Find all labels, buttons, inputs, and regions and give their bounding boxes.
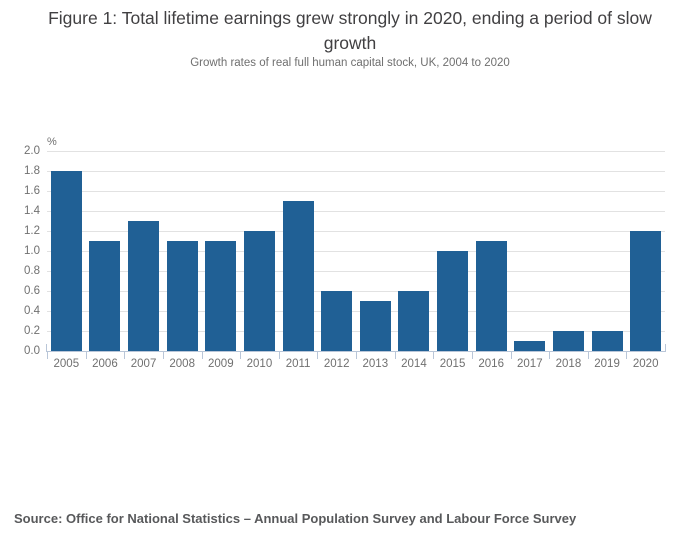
x-axis-tick-label: 2014	[395, 358, 434, 370]
y-axis-tick-label: 0.8	[24, 265, 40, 277]
x-axis-tick-label: 2007	[124, 358, 163, 370]
bar-slot	[472, 151, 511, 351]
bar[interactable]	[283, 201, 314, 351]
bar[interactable]	[437, 251, 468, 351]
axis-right-tick	[665, 344, 666, 352]
y-axis-tick-label: 1.2	[24, 225, 40, 237]
bar-slot	[124, 151, 163, 351]
bar[interactable]	[51, 171, 82, 351]
y-axis-tick-label: 0.4	[24, 305, 40, 317]
x-axis-tick-label: 2020	[626, 358, 665, 370]
bar[interactable]	[476, 241, 507, 351]
bar[interactable]	[630, 231, 661, 351]
y-axis-tick-label: 0.2	[24, 325, 40, 337]
x-axis-tick-label: 2018	[549, 358, 588, 370]
figure-container: Figure 1: Total lifetime earnings grew s…	[0, 0, 700, 549]
bar-slot	[86, 151, 125, 351]
bar-slot	[395, 151, 434, 351]
x-axis-tick-label: 2009	[202, 358, 241, 370]
x-axis-tick-label: 2011	[279, 358, 318, 370]
x-axis-tick-label: 2006	[86, 358, 125, 370]
x-axis-tick-label: 2019	[588, 358, 627, 370]
y-axis-tick-label: 1.0	[24, 245, 40, 257]
plot-area: 2.01.81.61.41.21.00.80.60.40.20.0	[47, 151, 665, 351]
plot-area-wrapper: 2.01.81.61.41.21.00.80.60.40.20.0	[0, 0, 700, 400]
bar-slot	[202, 151, 241, 351]
bar-slot	[511, 151, 550, 351]
source-note: Source: Office for National Statistics –…	[14, 511, 576, 526]
bar[interactable]	[514, 341, 545, 351]
y-axis-tick-label: 2.0	[24, 145, 40, 157]
bars-group	[47, 151, 665, 351]
y-axis-tick-label: 1.6	[24, 185, 40, 197]
bar[interactable]	[321, 291, 352, 351]
bar-slot	[163, 151, 202, 351]
bar-slot	[356, 151, 395, 351]
bar[interactable]	[398, 291, 429, 351]
bar[interactable]	[244, 231, 275, 351]
y-axis-tick-label: 0.0	[24, 345, 40, 357]
axis-left-tick	[46, 344, 47, 352]
y-axis-tick-label: 1.8	[24, 165, 40, 177]
bar[interactable]	[592, 331, 623, 351]
y-axis-tick-label: 1.4	[24, 205, 40, 217]
x-axis-tick-label: 2008	[163, 358, 202, 370]
bar-slot	[549, 151, 588, 351]
x-axis-tick-label: 2005	[47, 358, 86, 370]
x-axis-baseline	[46, 351, 665, 352]
bar[interactable]	[167, 241, 198, 351]
bar[interactable]	[205, 241, 236, 351]
bar[interactable]	[360, 301, 391, 351]
x-axis-tick-label: 2013	[356, 358, 395, 370]
x-axis-tick-label: 2016	[472, 358, 511, 370]
x-axis-tick-label: 2012	[317, 358, 356, 370]
x-axis-labels: 2005200620072008200920102011201220132014…	[47, 358, 665, 370]
bar-slot	[588, 151, 627, 351]
x-axis-tick-label: 2017	[511, 358, 550, 370]
bar-slot	[47, 151, 86, 351]
bar[interactable]	[128, 221, 159, 351]
bar-slot	[317, 151, 356, 351]
x-axis-tick-label: 2010	[240, 358, 279, 370]
bar-slot	[240, 151, 279, 351]
bar[interactable]	[89, 241, 120, 351]
bar[interactable]	[553, 331, 584, 351]
bar-slot	[433, 151, 472, 351]
bar-slot	[626, 151, 665, 351]
y-axis-tick-label: 0.6	[24, 285, 40, 297]
x-axis-tick-label: 2015	[433, 358, 472, 370]
bar-slot	[279, 151, 318, 351]
